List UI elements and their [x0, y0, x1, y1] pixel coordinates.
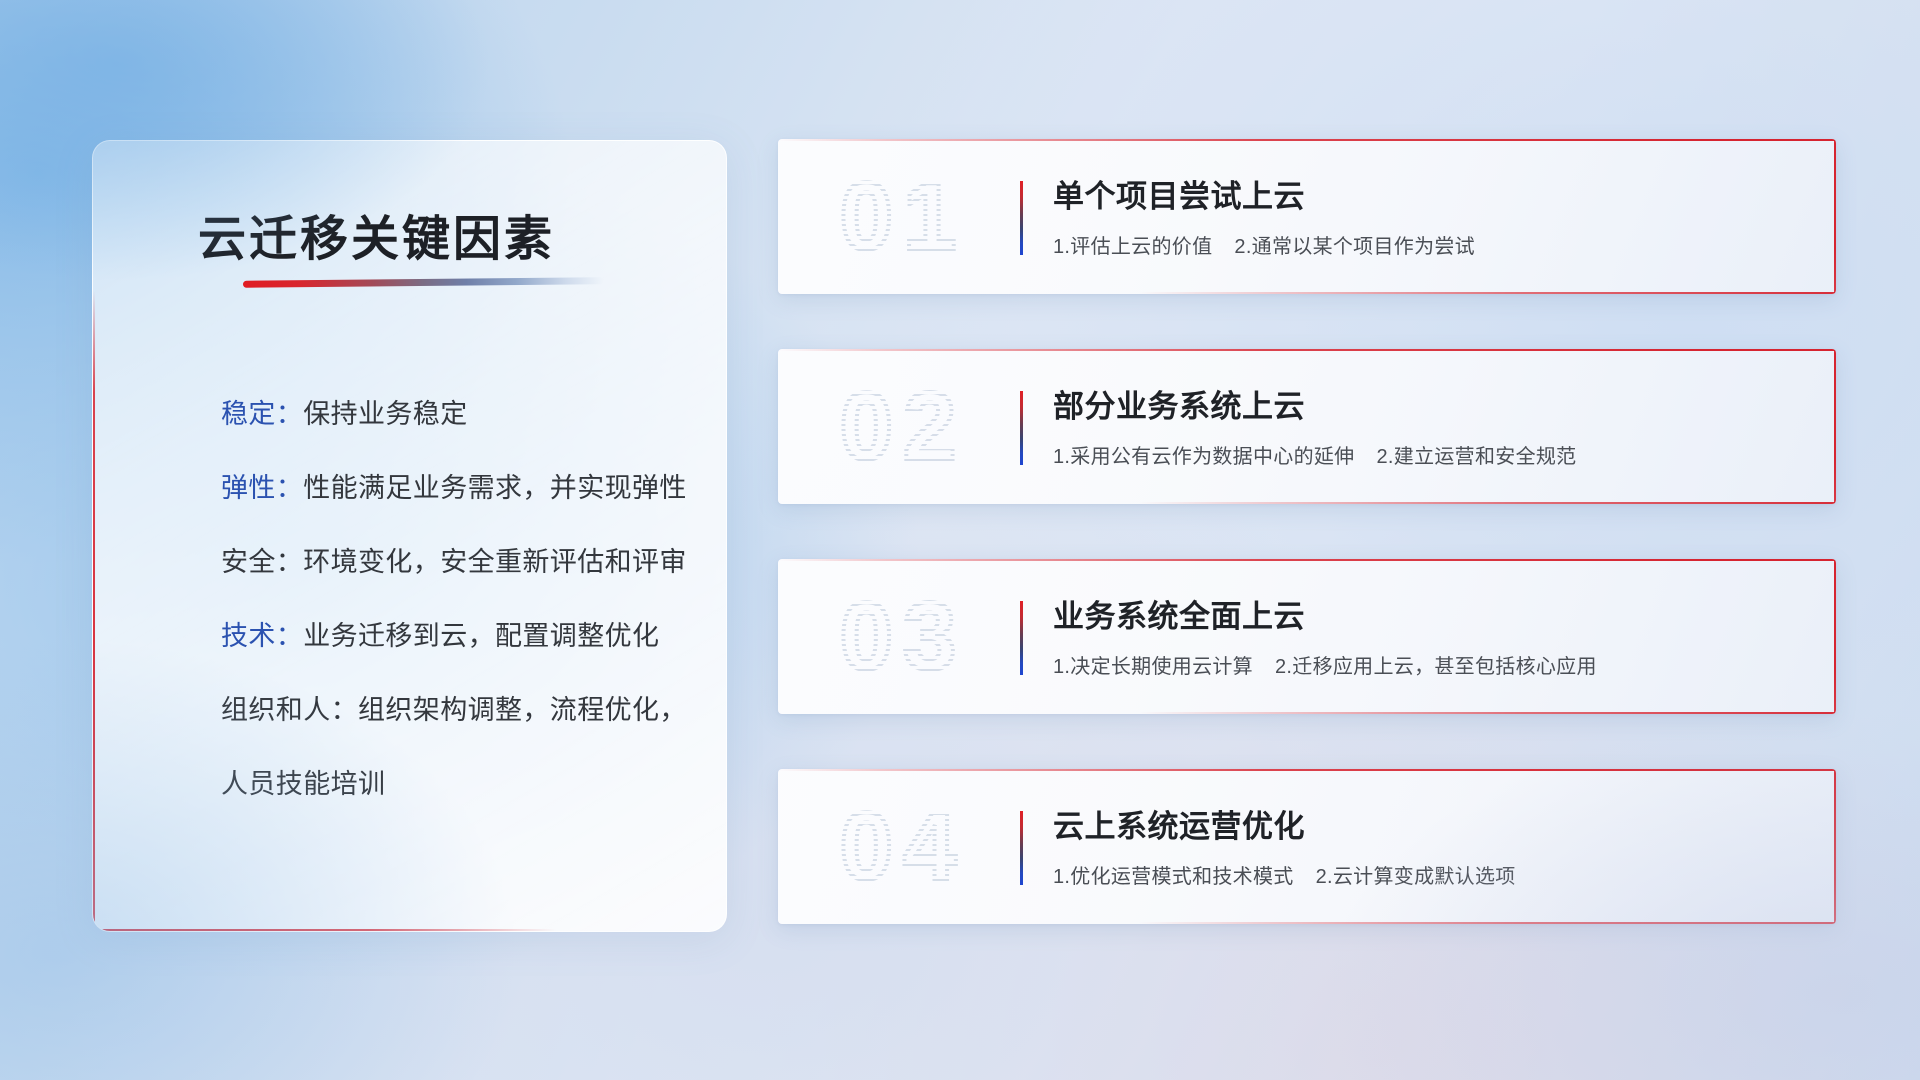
stage-description: 1.优化运营模式和技术模式2.云计算变成默认选项	[1053, 860, 1812, 889]
stage-point-2: 2.建立运营和安全规范	[1376, 446, 1576, 468]
stage-body: 部分业务系统上云 1.采用公有云作为数据中心的延伸2.建立运营和安全规范	[1053, 381, 1812, 469]
page-title: 云迁移关键因素	[198, 199, 555, 269]
stage-card[interactable]: 01 单个项目尝试上云 1.评估上云的价值2.通常以某个项目作为尝试	[778, 139, 1836, 294]
stage-accent-bar	[1020, 391, 1023, 465]
factor-label: 安全：	[221, 547, 303, 577]
panel-bottom-accent-line	[93, 929, 556, 931]
stage-title: 云上系统运营优化	[1053, 801, 1812, 846]
card-top-accent	[778, 559, 1836, 561]
stage-card[interactable]: 02 部分业务系统上云 1.采用公有云作为数据中心的延伸2.建立运营和安全规范	[778, 349, 1836, 504]
stage-point-2: 2.迁移应用上云，甚至包括核心应用	[1275, 656, 1597, 678]
factor-text: 人员技能培训	[221, 769, 385, 799]
stage-point-2: 2.云计算变成默认选项	[1316, 866, 1516, 888]
factor-text: 组织架构调整，流程优化，	[358, 695, 687, 725]
stage-number: 04	[808, 789, 998, 905]
card-bottom-accent	[1138, 922, 1836, 924]
card-right-accent	[1834, 769, 1836, 924]
card-top-accent	[778, 139, 1836, 141]
stage-point-1: 1.决定长期使用云计算	[1053, 656, 1253, 678]
card-right-accent	[1834, 559, 1836, 714]
stage-description: 1.采用公有云作为数据中心的延伸2.建立运营和安全规范	[1053, 440, 1812, 469]
card-right-accent	[1834, 349, 1836, 504]
factor-row: 人员技能培训	[221, 747, 698, 821]
factor-row: 弹性：性能满足业务需求，并实现弹性	[221, 451, 698, 525]
factor-label: 弹性：	[221, 473, 303, 503]
factor-label: 稳定：	[221, 399, 303, 429]
factor-row: 稳定：保持业务稳定	[221, 377, 698, 451]
stage-description: 1.评估上云的价值2.通常以某个项目作为尝试	[1053, 230, 1812, 259]
stage-number: 02	[808, 369, 998, 485]
stage-point-1: 1.评估上云的价值	[1053, 236, 1212, 258]
panel-left-accent-line	[93, 291, 95, 925]
card-bottom-accent	[1138, 292, 1836, 294]
stage-number: 03	[808, 579, 998, 695]
factor-text: 性能满足业务需求，并实现弹性	[303, 473, 687, 503]
stage-accent-bar	[1020, 181, 1023, 255]
stage-title: 部分业务系统上云	[1053, 381, 1812, 426]
card-bottom-accent	[1138, 712, 1836, 714]
title-underline-gradient	[243, 277, 603, 287]
stage-number: 01	[808, 159, 998, 275]
stage-title: 业务系统全面上云	[1053, 591, 1812, 636]
stage-body: 云上系统运营优化 1.优化运营模式和技术模式2.云计算变成默认选项	[1053, 801, 1812, 889]
factor-list: 稳定：保持业务稳定 弹性：性能满足业务需求，并实现弹性 安全：环境变化，安全重新…	[221, 377, 698, 821]
factor-row: 组织和人：组织架构调整，流程优化，	[221, 673, 698, 747]
card-top-accent	[778, 349, 1836, 351]
stage-card[interactable]: 04 云上系统运营优化 1.优化运营模式和技术模式2.云计算变成默认选项	[778, 769, 1836, 924]
stage-body: 单个项目尝试上云 1.评估上云的价值2.通常以某个项目作为尝试	[1053, 171, 1812, 259]
stage-point-1: 1.优化运营模式和技术模式	[1053, 866, 1294, 888]
factor-text: 保持业务稳定	[303, 399, 467, 429]
stage-point-2: 2.通常以某个项目作为尝试	[1234, 236, 1475, 258]
slide-canvas: 云迁移关键因素 稳定：保持业务稳定 弹性：性能满足业务需求，并实现弹性 安全：环…	[0, 0, 1920, 1080]
stage-title: 单个项目尝试上云	[1053, 171, 1812, 216]
card-top-accent	[778, 769, 1836, 771]
stage-card[interactable]: 03 业务系统全面上云 1.决定长期使用云计算2.迁移应用上云，甚至包括核心应用	[778, 559, 1836, 714]
factor-label: 组织和人：	[221, 695, 358, 725]
stage-accent-bar	[1020, 601, 1023, 675]
stage-body: 业务系统全面上云 1.决定长期使用云计算2.迁移应用上云，甚至包括核心应用	[1053, 591, 1812, 679]
stage-card-list: 01 单个项目尝试上云 1.评估上云的价值2.通常以某个项目作为尝试 02 部分…	[778, 139, 1836, 979]
card-right-accent	[1834, 139, 1836, 294]
factor-text: 业务迁移到云，配置调整优化	[303, 621, 659, 651]
key-factors-panel: 云迁移关键因素 稳定：保持业务稳定 弹性：性能满足业务需求，并实现弹性 安全：环…	[92, 140, 727, 932]
factor-label: 技术：	[221, 621, 303, 651]
card-bottom-accent	[1138, 502, 1836, 504]
stage-description: 1.决定长期使用云计算2.迁移应用上云，甚至包括核心应用	[1053, 650, 1812, 679]
factor-row: 安全：环境变化，安全重新评估和评审	[221, 525, 698, 599]
factor-text: 环境变化，安全重新评估和评审	[303, 547, 687, 577]
stage-accent-bar	[1020, 811, 1023, 885]
stage-point-1: 1.采用公有云作为数据中心的延伸	[1053, 446, 1354, 468]
factor-row: 技术：业务迁移到云，配置调整优化	[221, 599, 698, 673]
